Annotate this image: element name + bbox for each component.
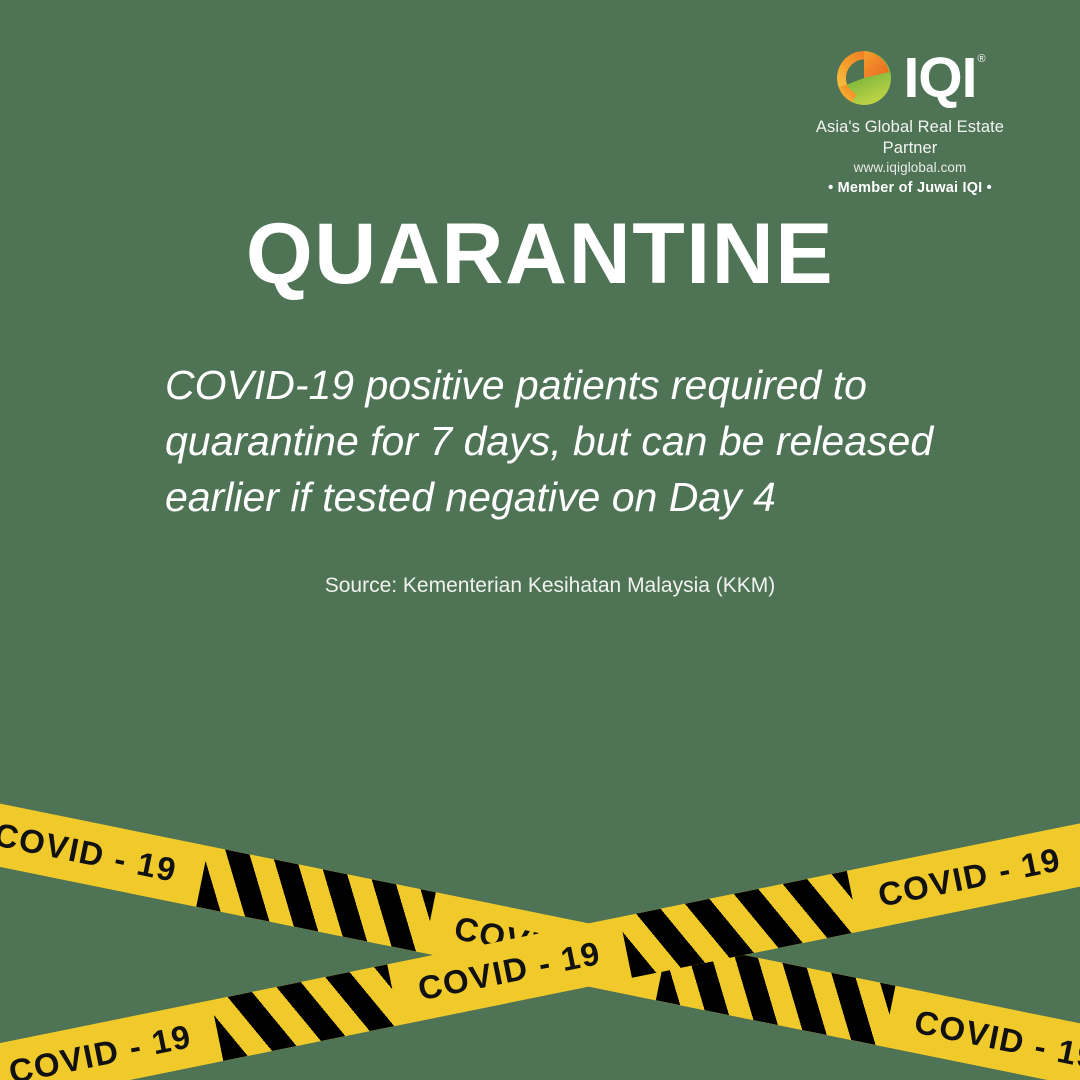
logo-mark-row: IQI ®: [794, 46, 1026, 110]
tape-stripe-block: [210, 964, 399, 1061]
logo-member-line: • Member of Juwai IQI •: [794, 179, 1026, 198]
source-attribution: Source: Kementerian Kesihatan Malaysia (…: [165, 572, 935, 600]
iqi-globe-icon: [834, 48, 894, 108]
poster-canvas: COVID - 19 COVID - 19 COVID - 19 COVID -…: [0, 0, 1080, 1080]
body-paragraph: COVID-19 positive patients required to q…: [165, 357, 935, 525]
logo-wordmark-wrap: IQI ®: [903, 50, 985, 106]
tape-label: COVID - 19: [0, 1000, 223, 1080]
tape-stripe-block: [196, 846, 436, 953]
tape-label: COVID - 19: [883, 986, 1080, 1080]
tape-label: COVID - 19: [387, 917, 632, 1025]
page-title: QUARANTINE: [0, 208, 1080, 300]
iqi-logo-block: IQI ® Asia's Global Real Estate Partner …: [794, 46, 1026, 198]
tape-stripe-block: [656, 940, 896, 1047]
tape-stripe-block: [620, 871, 860, 978]
logo-tagline-primary: Asia's Global Real Estate Partner: [794, 117, 1026, 159]
logo-website-url: www.iqiglobal.com: [794, 159, 1026, 177]
tape-label: COVID - 19: [423, 892, 668, 1000]
hazard-tape-descending: COVID - 19 COVID - 19 COVID - 19: [0, 791, 1080, 1080]
tape-label: COVID - 19: [0, 799, 208, 907]
registered-trademark-icon: ®: [977, 54, 985, 65]
hazard-tape-ascending: COVID - 19 COVID - 19 COVID - 19 COVID -…: [0, 791, 1080, 1080]
logo-wordmark: IQI: [903, 50, 976, 106]
tape-label: COVID - 19: [847, 823, 1080, 931]
